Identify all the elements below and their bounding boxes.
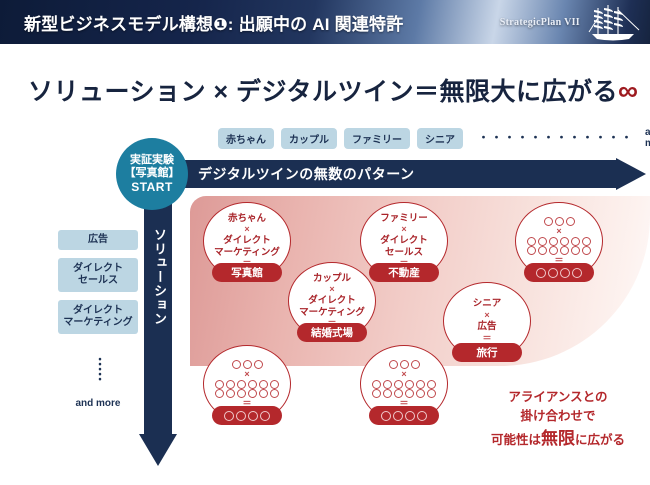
placeholder-rings-solution-2 [372, 389, 436, 398]
ring-icon [248, 411, 258, 421]
ring-icon [393, 411, 403, 421]
slide-root: 新型ビジネスモデル構想❶: 出願中の AI 関連特許 StrategicPlan… [0, 0, 650, 485]
ring-icon [215, 389, 224, 398]
combo-result-pill: 結婚式場 [297, 323, 367, 342]
combo-result-pill [212, 406, 282, 425]
solution-item-direct-marketing[interactable]: ダイレクト マーケティング [58, 300, 138, 334]
ring-icon [582, 237, 591, 246]
placeholder-rings-solution-1 [527, 237, 591, 246]
ring-icon [232, 360, 241, 369]
ring-icon [248, 389, 257, 398]
ring-icon [549, 246, 558, 255]
combo-result-pill: 写真館 [212, 263, 282, 282]
ring-icon [259, 380, 268, 389]
combo-result-pill [369, 406, 439, 425]
combo-times-operator: × [556, 227, 561, 236]
digital-twin-arrow-label: デジタルツインの無数のパターン [198, 164, 415, 184]
start-line-2: 【写真館】 [125, 167, 180, 180]
ring-icon [571, 246, 580, 255]
combo-solution: 広告 [477, 321, 496, 333]
combo-placeholder-1[interactable]: × ＝ [203, 345, 291, 425]
placeholder-rings-audience [389, 360, 420, 369]
segment-chip-row: 赤ちゃん カップル ファミリー シニア ・・・・・・・・・・・・ and mor… [218, 127, 650, 149]
caption-line-3-post: に広がる [575, 433, 625, 447]
combo-audience: カップル [313, 273, 351, 285]
ring-icon [544, 217, 553, 226]
placeholder-rings-audience [544, 217, 575, 226]
headline-text: ソリューション × デジタルツイン＝無限大に広がる [28, 78, 618, 106]
ring-icon [248, 380, 257, 389]
placeholder-rings-solution-1 [372, 380, 436, 389]
ring-icon [548, 268, 558, 278]
ring-icon [226, 380, 235, 389]
placeholder-rings-audience [232, 360, 263, 369]
combo-times-operator: × [244, 225, 249, 234]
ring-icon [394, 380, 403, 389]
ring-icon [536, 268, 546, 278]
caption-line-3-pre: 可能性は [491, 433, 541, 447]
segment-chip-baby[interactable]: 赤ちゃん [218, 128, 274, 149]
page-title: 新型ビジネスモデル構想❶: 出願中の AI 関連特許 [24, 10, 403, 35]
ring-icon [416, 389, 425, 398]
ring-icon [259, 389, 268, 398]
ring-icon [394, 389, 403, 398]
ring-icon [372, 389, 381, 398]
ring-icon [383, 380, 392, 389]
segment-chip-senior[interactable]: シニア [417, 128, 463, 149]
infinity-symbol: ∞ [618, 75, 638, 106]
alliance-caption: アライアンスとの 掛け合わせで 可能性は無限に広がる [474, 388, 642, 451]
ring-icon [527, 237, 536, 246]
ring-icon [270, 380, 279, 389]
ring-icon [566, 217, 575, 226]
ring-icon [572, 268, 582, 278]
caption-line-3: 可能性は無限に広がる [474, 426, 642, 452]
ring-icon [549, 237, 558, 246]
ring-icon [582, 246, 591, 255]
combo-times-operator: × [401, 370, 406, 379]
solution-axis-label: ソリューション [145, 228, 169, 326]
ring-icon [372, 380, 381, 389]
ring-icon [260, 411, 270, 421]
ring-icon [560, 268, 570, 278]
placeholder-rings-solution-1 [215, 380, 279, 389]
placeholder-rings-result [224, 411, 270, 421]
sailing-ship-icon [584, 2, 642, 44]
brand-label: StrategicPlan VII [500, 17, 580, 28]
caption-line-1: アライアンスとの [474, 388, 642, 407]
placeholder-rings-result [536, 268, 582, 278]
ring-icon [571, 237, 580, 246]
segment-chip-family[interactable]: ファミリー [344, 128, 410, 149]
ring-icon [560, 237, 569, 246]
placeholder-rings-solution-2 [215, 389, 279, 398]
start-line-3: START [131, 180, 173, 194]
segment-chip-couple[interactable]: カップル [281, 128, 337, 149]
combo-solution: ダイレクト セールス [380, 235, 428, 258]
ring-icon [555, 217, 564, 226]
combo-senior-ad[interactable]: シニア × 広告 ＝ 旅行 [443, 282, 531, 362]
combo-times-operator: × [244, 370, 249, 379]
ring-icon [270, 389, 279, 398]
solution-and-more: and more [58, 398, 138, 409]
combo-family-ds[interactable]: ファミリー × ダイレクト セールス ＝ 不動産 [360, 202, 448, 282]
ring-icon [243, 360, 252, 369]
combo-times-operator: × [401, 225, 406, 234]
ring-icon [254, 360, 263, 369]
ring-icon [224, 411, 234, 421]
ring-icon [237, 380, 246, 389]
combo-baby-dm[interactable]: 赤ちゃん × ダイレクト マーケティング ＝ 写真館 [203, 202, 291, 282]
ring-icon [226, 389, 235, 398]
ring-icon [416, 380, 425, 389]
start-line-1: 実証実験 [130, 154, 174, 167]
combo-audience: ファミリー [380, 213, 428, 225]
ring-icon [405, 411, 415, 421]
caption-emphasis: 無限 [541, 429, 575, 448]
ring-icon [405, 389, 414, 398]
ring-icon [527, 246, 536, 255]
combo-placeholder-3[interactable]: × ＝ [515, 202, 603, 282]
ring-icon [538, 246, 547, 255]
ring-icon [381, 411, 391, 421]
combo-audience: 赤ちゃん [228, 213, 266, 225]
ring-icon [411, 360, 420, 369]
combo-times-operator: × [329, 285, 334, 294]
ring-icon [389, 360, 398, 369]
solution-dots: ・ ・ ・ ・ ・ [95, 358, 105, 383]
slide-header: 新型ビジネスモデル構想❶: 出願中の AI 関連特許 StrategicPlan… [0, 0, 650, 44]
ring-icon [405, 380, 414, 389]
ring-icon [400, 360, 409, 369]
ring-icon [215, 380, 224, 389]
combo-times-operator: × [484, 311, 489, 320]
placeholder-rings-result [381, 411, 427, 421]
ring-icon [538, 237, 547, 246]
ring-icon [383, 389, 392, 398]
combo-audience: シニア [473, 298, 502, 310]
start-circle[interactable]: 実証実験 【写真館】 START [116, 138, 188, 210]
combo-result-pill: 不動産 [369, 263, 439, 282]
digital-twin-arrow: デジタルツインの無数のパターン [138, 158, 646, 190]
ring-icon [417, 411, 427, 421]
segment-and-more: and more [645, 127, 650, 149]
combo-result-pill: 旅行 [452, 343, 522, 362]
combo-equals-operator: ＝ [482, 334, 491, 343]
caption-line-2: 掛け合わせで [474, 407, 642, 426]
ring-icon [236, 411, 246, 421]
headline: ソリューション × デジタルツイン＝無限大に広がる∞ [28, 72, 628, 108]
segment-dots: ・・・・・・・・・・・・ [478, 133, 634, 144]
ring-icon [237, 389, 246, 398]
ring-icon [560, 246, 569, 255]
combo-solution: ダイレクト マーケティング [214, 235, 280, 258]
combo-placeholder-2[interactable]: × ＝ [360, 345, 448, 425]
solution-item-ad[interactable]: 広告 [58, 230, 138, 250]
ring-icon [427, 380, 436, 389]
combo-solution: ダイレクト マーケティング [299, 295, 365, 318]
solution-item-direct-sales[interactable]: ダイレクト セールス [58, 258, 138, 292]
placeholder-rings-solution-2 [527, 246, 591, 255]
combo-result-pill [524, 263, 594, 282]
ring-icon [427, 389, 436, 398]
